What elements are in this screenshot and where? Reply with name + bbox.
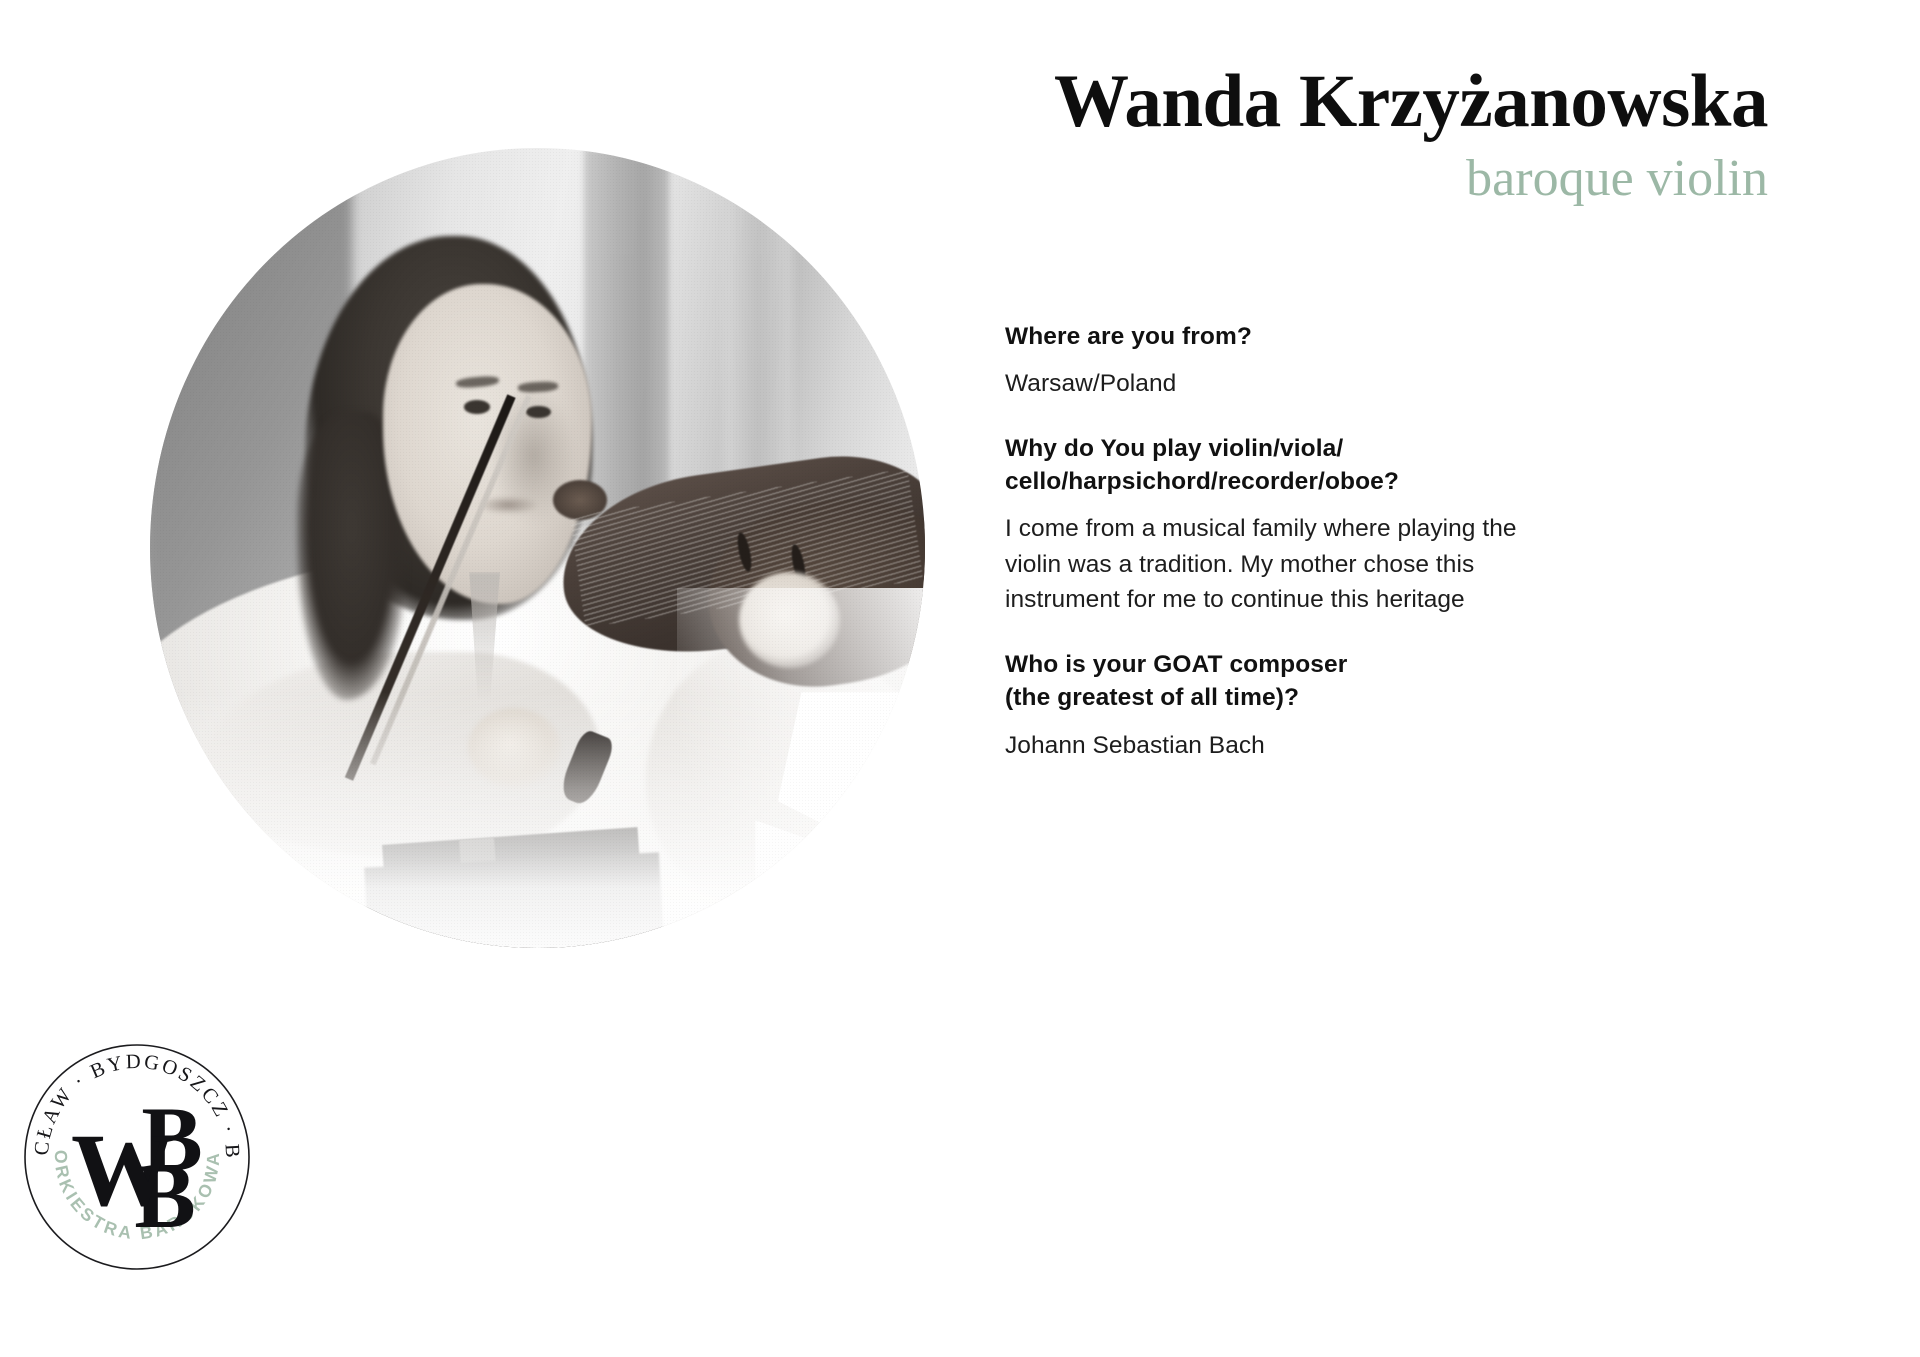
logo-letter-w: W	[71, 1113, 175, 1228]
qa-answer: Johann Sebastian Bach	[1005, 728, 1550, 764]
qa-item: Where are you from? Warsaw/Poland	[1005, 320, 1550, 402]
qa-answer: Warsaw/Poland	[1005, 366, 1550, 402]
qa-list: Where are you from? Warsaw/Poland Why do…	[1005, 320, 1550, 763]
performer-photo	[150, 148, 925, 948]
qa-question: Why do You play violin/viola/ cello/harp…	[1005, 432, 1550, 499]
performer-instrument: baroque violin	[868, 148, 1768, 209]
qa-answer: I come from a musical family where playi…	[1005, 511, 1550, 618]
page-title: Wanda Krzyżanowska	[868, 62, 1768, 142]
qa-question: Who is your GOAT composer (the greatest …	[1005, 648, 1550, 715]
wbb-orchestra-logo: WROCŁAW · BYDGOSZCZ · BRNO ORKIESTRA BAR…	[22, 1042, 252, 1272]
header: Wanda Krzyżanowska baroque violin	[868, 62, 1768, 209]
photo-film-grain	[150, 148, 925, 948]
photo-circle-mask	[150, 148, 925, 948]
qa-item: Who is your GOAT composer (the greatest …	[1005, 648, 1550, 763]
qa-item: Why do You play violin/viola/ cello/harp…	[1005, 432, 1550, 618]
qa-question: Where are you from?	[1005, 320, 1550, 353]
